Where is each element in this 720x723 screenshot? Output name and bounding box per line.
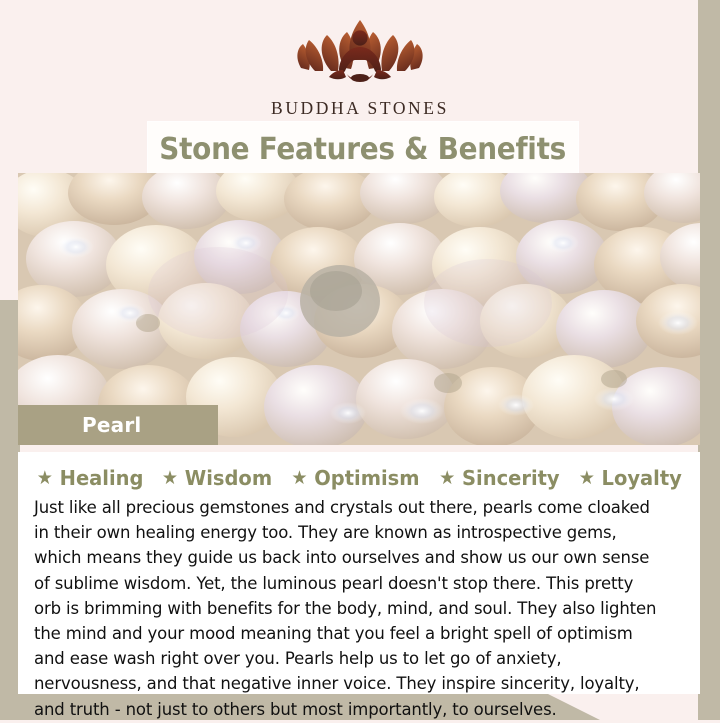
attribute-healing: ★ Healing — [37, 466, 144, 490]
frame-left-strip — [0, 300, 20, 720]
attribute-label: Optimism — [314, 466, 419, 490]
stone-description: Just like all precious gemstones and cry… — [34, 496, 661, 723]
stone-info-card: ★ Healing ★ Wisdom ★ Optimism ★ Sincerit… — [18, 452, 700, 694]
attribute-loyalty: ★ Loyalty — [578, 466, 681, 490]
attribute-wisdom: ★ Wisdom — [162, 466, 272, 490]
attribute-sincerity: ★ Sincerity — [439, 466, 559, 490]
attribute-label: Wisdom — [185, 466, 272, 490]
page-title: Stone Features & Benefits — [160, 132, 567, 167]
attribute-list: ★ Healing ★ Wisdom ★ Optimism ★ Sincerit… — [34, 466, 684, 490]
star-icon: ★ — [162, 469, 178, 488]
brand-logo: BUDDHA STONES — [0, 14, 720, 119]
brand-name: BUDDHA STONES — [271, 98, 449, 119]
attribute-label: Loyalty — [601, 466, 681, 490]
lotus-meditation-icon — [285, 14, 435, 92]
attribute-label: Sincerity — [462, 466, 560, 490]
attribute-label: Healing — [59, 466, 143, 490]
stone-name: Pearl — [82, 413, 141, 437]
star-icon: ★ — [291, 469, 307, 488]
star-icon: ★ — [439, 469, 455, 488]
stone-name-badge: Pearl — [18, 405, 218, 445]
page-root: BUDDHA STONES Stone Features & Benefits — [0, 0, 720, 720]
star-icon: ★ — [578, 469, 594, 488]
attribute-optimism: ★ Optimism — [291, 466, 419, 490]
page-title-banner: Stone Features & Benefits — [148, 122, 578, 176]
star-icon: ★ — [37, 469, 53, 488]
